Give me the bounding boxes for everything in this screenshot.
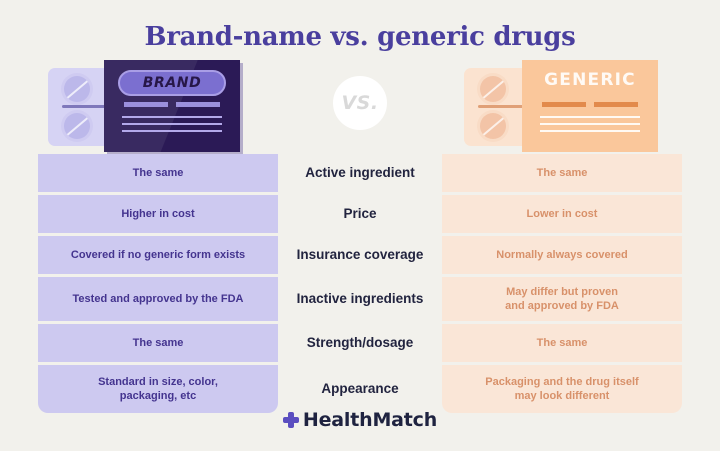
comparison-table: The sameActive ingredientThe sameHigher …	[0, 154, 720, 413]
table-row: The sameActive ingredientThe same	[0, 154, 720, 192]
pill-icon	[64, 113, 90, 139]
generic-illustration: GENERIC	[452, 60, 692, 158]
pill-icon	[480, 113, 506, 139]
card-rule	[122, 123, 222, 125]
attribute-label-cell: Strength/dosage	[278, 324, 442, 362]
table-row: The sameStrength/dosageThe same	[0, 324, 720, 362]
card-rule	[540, 123, 640, 125]
brand-value-cell: The same	[38, 324, 278, 362]
table-row: Standard in size, color,packaging, etcAp…	[0, 365, 720, 413]
generic-label-card: GENERIC	[522, 60, 658, 152]
generic-value-cell: Lower in cost	[442, 195, 682, 233]
pill-icon	[480, 76, 506, 102]
table-row: Higher in costPriceLower in cost	[0, 195, 720, 233]
versus-badge: VS.	[333, 76, 387, 130]
generic-badge-label: GENERIC	[522, 70, 658, 90]
generic-value-cell: The same	[442, 324, 682, 362]
card-rule	[122, 130, 222, 132]
infographic-canvas: Brand-name vs. generic drugs BRAND	[0, 0, 720, 451]
generic-value-cell: May differ but provenand approved by FDA	[442, 277, 682, 321]
brand-label-card: BRAND	[104, 60, 240, 152]
generic-value-cell: Packaging and the drug itselfmay look di…	[442, 365, 682, 413]
card-subbar	[594, 102, 638, 107]
page-title: Brand-name vs. generic drugs	[0, 22, 720, 52]
brand-value-cell: The same	[38, 154, 278, 192]
attribute-label-cell: Appearance	[278, 365, 442, 413]
logo-wordmark: HealthMatch	[303, 409, 437, 431]
card-rule	[540, 116, 640, 118]
plus-cross-icon	[283, 412, 299, 428]
attribute-label-cell: Inactive ingredients	[278, 277, 442, 321]
attribute-label-cell: Price	[278, 195, 442, 233]
brand-value-cell: Higher in cost	[38, 195, 278, 233]
card-rule	[540, 130, 640, 132]
card-subbar	[542, 102, 586, 107]
table-row: Covered if no generic form existsInsuran…	[0, 236, 720, 274]
card-subbar	[176, 102, 220, 107]
brand-illustration: BRAND	[38, 60, 278, 158]
brand-badge-label: BRAND	[143, 75, 202, 91]
brand-value-cell: Tested and approved by the FDA	[38, 277, 278, 321]
table-row: Tested and approved by the FDAInactive i…	[0, 277, 720, 321]
brand-value-cell: Standard in size, color,packaging, etc	[38, 365, 278, 413]
healthmatch-logo: HealthMatch	[0, 409, 720, 431]
pill-icon	[64, 76, 90, 102]
attribute-label-cell: Active ingredient	[278, 154, 442, 192]
generic-value-cell: Normally always covered	[442, 236, 682, 274]
generic-value-cell: The same	[442, 154, 682, 192]
card-rule	[122, 116, 222, 118]
brand-badge: BRAND	[118, 70, 226, 96]
brand-value-cell: Covered if no generic form exists	[38, 236, 278, 274]
card-subbar	[124, 102, 168, 107]
attribute-label-cell: Insurance coverage	[278, 236, 442, 274]
